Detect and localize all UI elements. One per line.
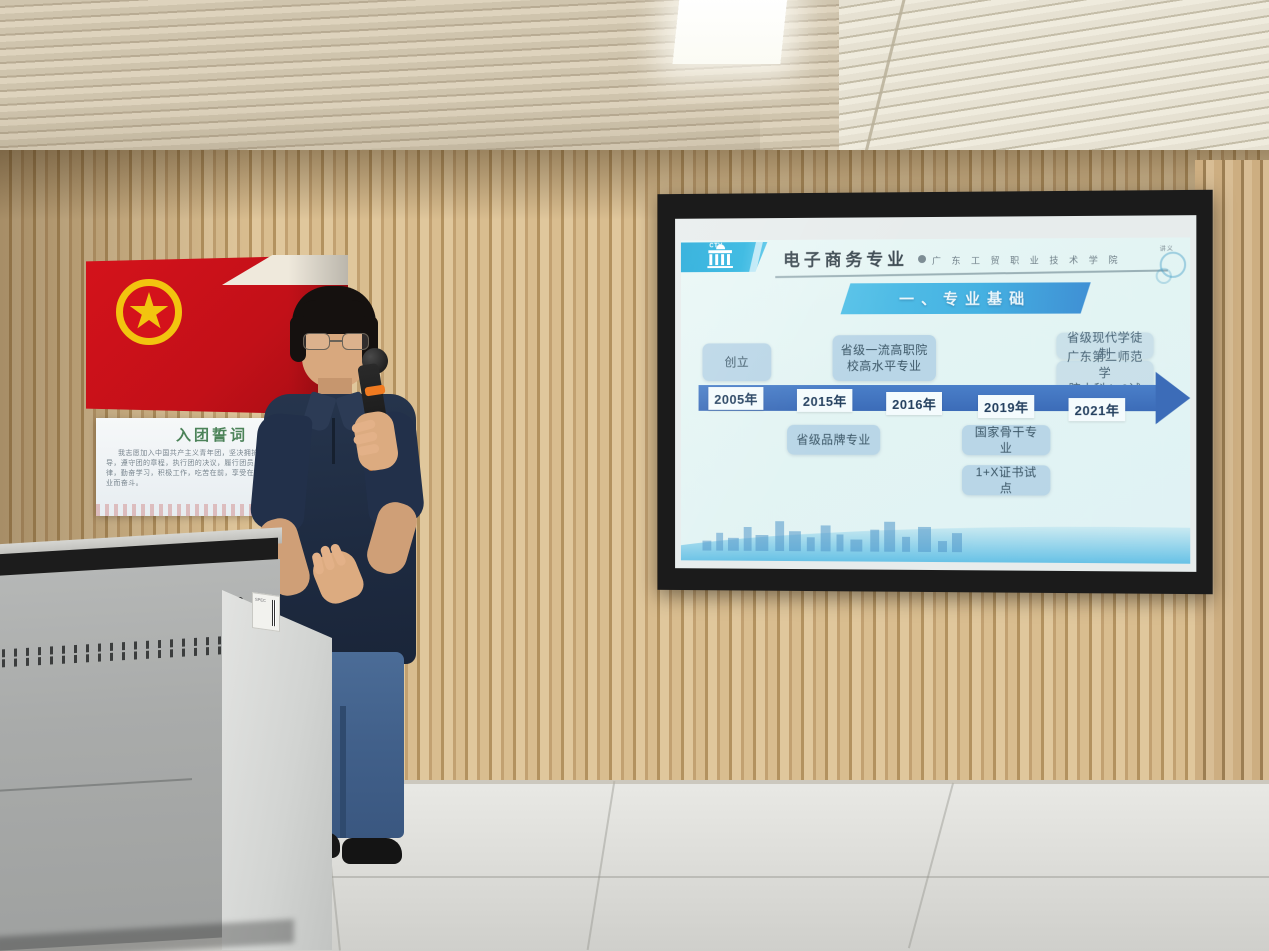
skyline-building (702, 541, 711, 551)
star-icon (129, 292, 169, 332)
sleeve-left (249, 412, 313, 532)
node-label: 省级品牌专业 (796, 432, 870, 448)
node-label: 创立 (725, 354, 750, 370)
logo-base (707, 266, 733, 268)
floor-tile-seam (587, 781, 616, 950)
skyline-building (728, 538, 739, 551)
projection-screen: CTV 电子商务专业 广 东 工 贸 职 业 技 术 学 院 讲义 (657, 190, 1212, 594)
skyline-building (870, 530, 879, 552)
skyline-building (821, 525, 831, 551)
section-banner: 一、专业基础 (840, 282, 1090, 314)
logo-roof (708, 250, 732, 253)
timeline-node-below: 1+X证书试点 (962, 465, 1050, 495)
institution-building-logo-icon: CTV (706, 244, 733, 268)
badge-stripe (749, 242, 763, 272)
skyline-building (756, 535, 769, 551)
skyline-building (775, 521, 784, 551)
slide-title: 电子商务专业 (783, 245, 908, 271)
ceiling-panel-light-icon (672, 0, 787, 64)
finger (357, 443, 380, 456)
timeline-node-above: 创立 (702, 343, 771, 381)
timeline-year-label: 2021年 (1069, 398, 1126, 421)
skyline-building (918, 527, 931, 552)
floor-tile-seam (908, 783, 954, 949)
lecture-hall-scene: 入团誓词 我志愿加入中国共产主义青年团，坚决拥护中国共产党的领导，遵守团的章程，… (0, 0, 1269, 951)
glasses-lens-right (342, 333, 369, 350)
header-divider (775, 269, 1168, 277)
timeline-year-label: 2005年 (708, 387, 763, 410)
logo-wordmark: CTV (709, 243, 722, 249)
skyline-building (850, 540, 862, 552)
skyline-building (807, 537, 815, 551)
shirt-placket (332, 418, 335, 464)
skyline-building (716, 533, 723, 551)
glasses-lens-left (303, 333, 330, 350)
timeline-year-label: 2015年 (797, 389, 853, 412)
node-label: 国家骨干专业 (970, 424, 1042, 456)
presentation-slide: CTV 电子商务专业 广 东 工 贸 职 业 技 术 学 院 讲义 (681, 237, 1190, 563)
skyline-building (837, 534, 844, 551)
glasses-bridge (330, 340, 342, 342)
slide-school-name: 广 东 工 贸 职 业 技 术 学 院 (932, 253, 1122, 267)
timeline-node-above: 省级一流高职院 校高水平专业 (833, 335, 936, 381)
skyline-building (902, 537, 910, 552)
school-bullet-icon (918, 255, 926, 263)
slide-header: CTV 电子商务专业 广 东 工 贸 职 业 技 术 学 院 讲义 (681, 237, 1190, 280)
timeline-node-below: 国家骨干专业 (962, 425, 1050, 455)
timeline-node-below: 省级品牌专业 (787, 425, 880, 455)
skyline-building (884, 522, 895, 552)
decor-circle-icon (1156, 268, 1172, 284)
lectern-label-text: SPEC (255, 596, 266, 603)
timeline-year-label: 2019年 (978, 395, 1035, 418)
timeline-arrow-icon (1156, 372, 1191, 425)
lectern: SPEC (0, 536, 362, 951)
node-label: 省级一流高职院 校高水平专业 (841, 342, 928, 374)
screen-surface: CTV 电子商务专业 广 东 工 贸 职 业 技 术 学 院 讲义 (675, 215, 1196, 572)
skyline-building (938, 541, 947, 552)
glasses-icon (302, 333, 370, 350)
lectern-spec-label: SPEC (252, 592, 280, 632)
skyline-building (952, 533, 962, 552)
skyline-building (744, 527, 752, 551)
timeline-year-label: 2016年 (886, 392, 942, 415)
barcode-icon (272, 600, 276, 627)
logo-columns (709, 254, 731, 265)
node-label: 1+X证书试点 (970, 464, 1042, 496)
youth-league-emblem-icon (116, 279, 182, 345)
skyline-building (789, 531, 801, 551)
section-banner-label: 一、专业基础 (899, 288, 1031, 310)
